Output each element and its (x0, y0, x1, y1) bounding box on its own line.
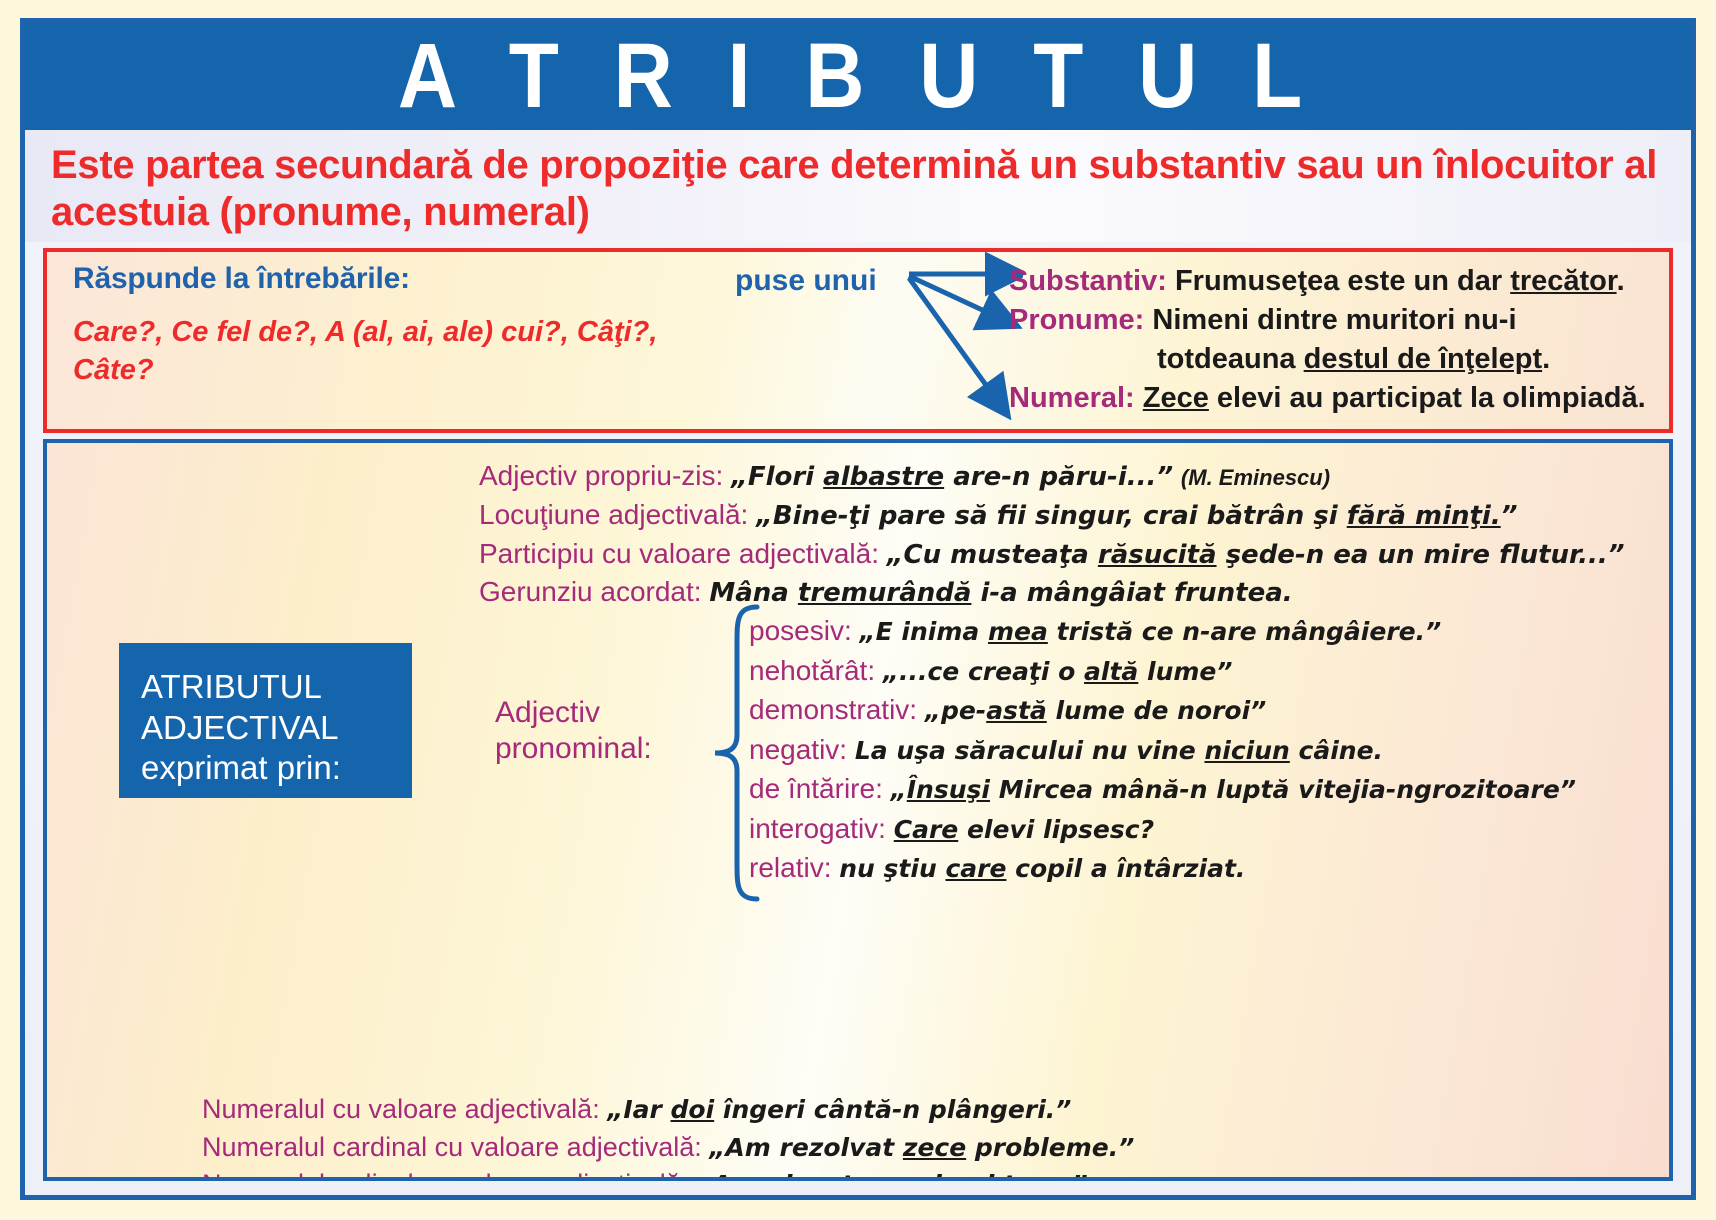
pron-caption-line-2: pronominal: (495, 731, 652, 767)
adjective-form-example: „Bine-ţi pare să fii singur, crai bătrân… (756, 501, 1517, 531)
ex-post: ” (1501, 501, 1518, 531)
pronominal-type-example: „Însuşi Mircea mână-n luptă vitejia-ngro… (891, 775, 1576, 804)
pronominal-types-list: posesiv: „E inima mea tristă ce n-are mâ… (749, 611, 1663, 887)
target-substantiv-example-underlined: trecător (1510, 265, 1616, 297)
pronominal-type-example: La uşa săracului nu vine niciun câine. (855, 736, 1383, 765)
adjective-form-label: Adjectiv propriu-zis: (479, 460, 723, 491)
ex-post: îngeri cântă-n plângeri.” (714, 1095, 1071, 1124)
ex-pre: nu ştiu (839, 854, 945, 883)
numeral-form-example: „Iar doi îngeri cântă-n plângeri.” (607, 1095, 1071, 1124)
target-numeral: Numeral: Zece elevi au participat la oli… (1009, 379, 1661, 418)
pronominal-type-label: negativ: (749, 734, 847, 765)
target-pronume-example-post: . (1542, 343, 1550, 375)
adjective-form-example: „Flori albastre are-n păru-i...” (731, 462, 1173, 492)
adjective-form-label: Gerunziu acordat: (479, 576, 702, 607)
ex-underlined: răsucită (1098, 540, 1217, 570)
pronominal-type-row: negativ: La uşa săracului nu vine niciun… (749, 730, 1663, 769)
ex-underlined: zece (903, 1133, 966, 1162)
questions-list: Care?, Ce fel de?, A (al, ai, ale) cui?,… (73, 314, 673, 389)
ex-pre: „...ce creaţi o (883, 657, 1084, 686)
pronominal-type-row: posesiv: „E inima mea tristă ce n-are mâ… (749, 611, 1663, 650)
target-numeral-example-underlined: Zece (1143, 382, 1209, 414)
pronominal-type-row: interogativ: Care elevi lipsesc? (749, 809, 1663, 848)
blue-label-line-2: ADJECTIVAL (141, 708, 412, 748)
ex-underlined: niciun (1204, 736, 1289, 765)
pron-caption-line-1: Adjectiv (495, 695, 652, 731)
atributul-adjectival-label: ATRIBUTUL ADJECTIVAL exprimat prin: (119, 643, 412, 798)
ex-underlined: Care (894, 815, 959, 844)
numeral-form-example: „Am rezolvat zece probleme.” (709, 1133, 1134, 1162)
numeral-form-row: Numeralul cu valoare adjectivală: „Iar d… (202, 1091, 1661, 1128)
main-box: Adjectiv propriu-zis: „Flori albastre ar… (43, 439, 1673, 1181)
ex-underlined: primul (903, 1170, 994, 1181)
target-pronume-example-line2: totdeauna (1157, 343, 1304, 375)
pronominal-type-row: relativ: nu ştiu care copil a întârziat. (749, 848, 1663, 887)
page-title: A T R I B U T U L (398, 31, 1318, 123)
ex-pre: „Am rezolvat (709, 1133, 903, 1162)
adjective-forms-list: Adjectiv propriu-zis: „Flori albastre ar… (47, 443, 1669, 611)
definition-section: Este partea secundară de propoziţie care… (25, 130, 1691, 242)
pronominal-type-example: „pe-astă lume de noroi” (925, 696, 1266, 725)
numeral-form-row: Numeralul ordinal cu valoare adjectivală… (202, 1166, 1661, 1181)
ex-post: şede-n ea un mire flutur...” (1217, 540, 1625, 570)
ex-pre: „Cu musteaţa (887, 540, 1098, 570)
pronominal-type-label: demonstrativ: (749, 694, 917, 725)
numeral-forms-list: Numeralul cu valoare adjectivală: „Iar d… (202, 1091, 1661, 1181)
ex-pre: „Bine-ţi pare să fii singur, crai bătrân… (756, 501, 1347, 531)
ex-pre: „Flori (731, 462, 823, 492)
ex-pre: „ (891, 775, 907, 804)
ex-underlined: albastre (823, 462, 944, 492)
ex-post: elevi lipsesc? (958, 815, 1154, 844)
target-numeral-example-post: elevi au participat la olimpiadă. (1209, 382, 1646, 414)
pronominal-type-row: de întărire: „Însuşi Mircea mână-n luptă… (749, 769, 1663, 808)
questions-targets: Substantiv: Frumuseţea este un dar trecă… (1009, 262, 1661, 417)
target-pronume-label: Pronume: (1009, 304, 1144, 336)
ex-post: copil a întârziat. (1006, 854, 1245, 883)
ex-post: tren.” (994, 1170, 1087, 1181)
target-substantiv-label: Substantiv: (1009, 265, 1167, 297)
numeral-form-example: „Am plecat cu primul tren.” (696, 1170, 1088, 1181)
ex-post: i-a mângâiat fruntea. (971, 578, 1292, 608)
blue-label-line-3: exprimat prin: (141, 748, 412, 788)
ex-pre: „Am plecat cu (696, 1170, 903, 1181)
ex-post: probleme.” (966, 1133, 1134, 1162)
ex-underlined: Însuşi (907, 775, 990, 804)
ex-underlined: tremurândă (798, 578, 972, 608)
target-substantiv: Substantiv: Frumuseţea este un dar trecă… (1009, 262, 1661, 301)
adjective-form-attribution: (M. Eminescu) (1181, 465, 1330, 490)
target-pronume-line2: totdeauna destul de înţelept. (1009, 340, 1661, 379)
adjective-form-label: Participiu cu valoare adjectivală: (479, 538, 879, 569)
pronominal-type-label: relativ: (749, 852, 831, 883)
pronominal-type-example: „E inima mea tristă ce n-are mângâiere.” (860, 617, 1442, 646)
poster-root: A T R I B U T U L Este partea secundară … (0, 0, 1716, 1220)
arrows-svg (903, 252, 1023, 433)
target-pronume-example-pre: Nimeni dintre muritori nu-i (1152, 304, 1516, 336)
arrow-group (903, 252, 1023, 433)
pronominal-type-example: „...ce creaţi o altă lume” (883, 657, 1233, 686)
pronominal-type-example: Care elevi lipsesc? (894, 815, 1154, 844)
ex-underlined: altă (1084, 657, 1138, 686)
pronominal-type-label: nehotărât: (749, 655, 875, 686)
adjective-form-example: „Cu musteaţa răsucită şede-n ea un mire … (887, 540, 1625, 570)
ex-post: câine. (1290, 736, 1383, 765)
numeral-form-row: Numeralul cardinal cu valoare adjectival… (202, 1129, 1661, 1166)
connector-label: puse unui (735, 264, 877, 298)
adjective-form-row: Locuţiune adjectivală: „Bine-ţi pare să … (47, 496, 1669, 535)
questions-box: Răspunde la întrebările: Care?, Ce fel d… (43, 248, 1673, 433)
ex-post: tristă ce n-are mângâiere.” (1048, 617, 1441, 646)
pronominal-type-label: de întărire: (749, 773, 883, 804)
ex-post: lume” (1138, 657, 1232, 686)
blue-label-line-1: ATRIBUTUL (141, 667, 412, 707)
ex-underlined: mea (988, 617, 1048, 646)
pronominal-type-row: nehotărât: „...ce creaţi o altă lume” (749, 651, 1663, 690)
adjective-form-example: Mâna tremurândă i-a mângâiat fruntea. (709, 578, 1292, 608)
target-numeral-label: Numeral: (1009, 382, 1135, 414)
pronominal-type-example: nu ştiu care copil a întârziat. (839, 854, 1245, 883)
ex-pre: „E inima (860, 617, 988, 646)
target-pronume-example-underlined: destul de înţelept (1304, 343, 1542, 375)
main-box-wrapper: Adjectiv propriu-zis: „Flori albastre ar… (25, 433, 1691, 1195)
ex-post: Mircea mână-n luptă vitejia-ngrozitoare” (990, 775, 1576, 804)
numeral-form-label: Numeralul ordinal cu valoare adjectivală… (202, 1169, 688, 1181)
ex-underlined: fără minţi. (1347, 501, 1501, 531)
target-substantiv-example-pre: Frumuseţea este un dar (1175, 265, 1510, 297)
target-pronume: Pronume: Nimeni dintre muritori nu-i (1009, 301, 1661, 340)
adjective-form-row: Gerunziu acordat: Mâna tremurândă i-a mâ… (47, 573, 1669, 612)
ex-post: are-n păru-i...” (944, 462, 1173, 492)
pronominal-type-row: demonstrativ: „pe-astă lume de noroi” (749, 690, 1663, 729)
pronominal-type-label: posesiv: (749, 615, 852, 646)
adjectiv-pronominal-caption: Adjectiv pronominal: (495, 695, 652, 767)
questions-heading: Răspunde la întrebările: (73, 262, 673, 296)
ex-post: lume de noroi” (1047, 696, 1266, 725)
ex-underlined: astă (986, 696, 1047, 725)
ex-pre: „pe- (925, 696, 986, 725)
questions-left-column: Răspunde la întrebările: Care?, Ce fel d… (73, 262, 673, 389)
poster-title-bar: A T R I B U T U L (25, 23, 1691, 130)
target-substantiv-example-post: . (1617, 265, 1625, 297)
adjective-form-row: Adjectiv propriu-zis: „Flori albastre ar… (47, 457, 1669, 496)
poster-frame: A T R I B U T U L Este partea secundară … (20, 18, 1696, 1200)
ex-underlined: care (945, 854, 1006, 883)
adjective-form-label: Locuţiune adjectivală: (479, 499, 748, 530)
questions-box-wrapper: Răspunde la întrebările: Care?, Ce fel d… (25, 242, 1691, 433)
ex-pre: La uşa săracului nu vine (855, 736, 1205, 765)
definition-text: Este partea secundară de propoziţie care… (51, 142, 1665, 236)
pronominal-type-label: interogativ: (749, 813, 886, 844)
ex-pre: „Iar (607, 1095, 670, 1124)
numeral-form-label: Numeralul cardinal cu valoare adjectival… (202, 1132, 702, 1162)
adjective-form-row: Participiu cu valoare adjectivală: „Cu m… (47, 535, 1669, 574)
ex-underlined: doi (671, 1095, 715, 1124)
numeral-form-label: Numeralul cu valoare adjectivală: (202, 1094, 600, 1124)
